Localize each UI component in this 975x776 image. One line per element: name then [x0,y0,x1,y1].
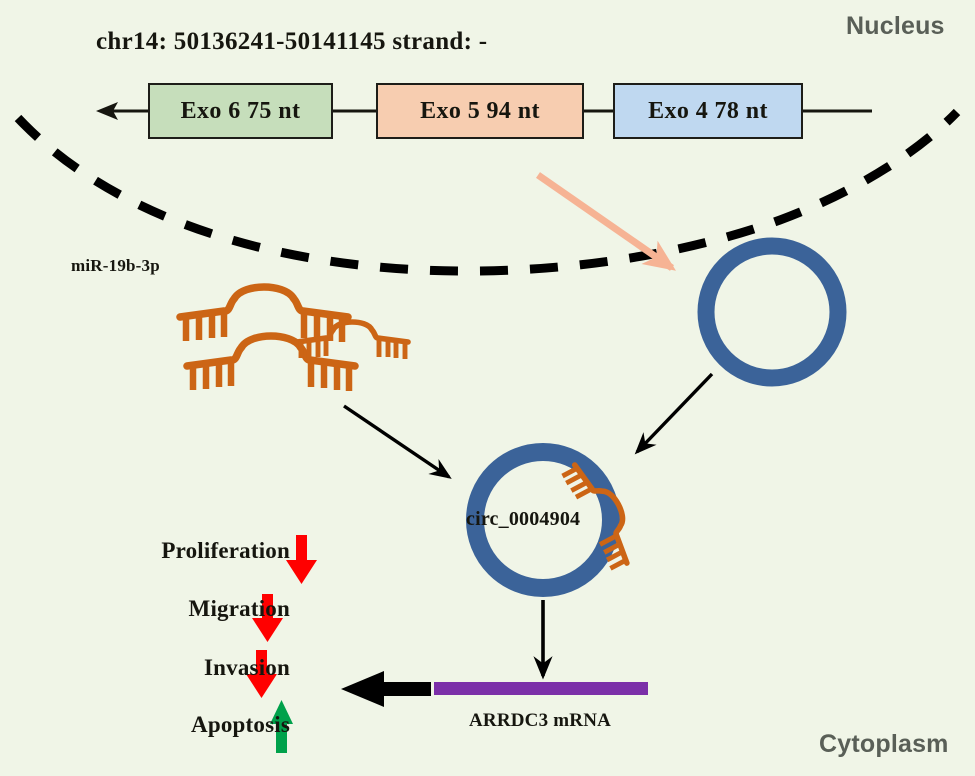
phenotype-list: Proliferation Migration Invasion Apoptos… [140,530,290,760]
gene-locus-coordinates: chr14: 50136241-50141145 strand: - [96,28,487,56]
outcome-arrow [341,671,431,707]
phenotype-label-migration: Migration [189,596,290,622]
pathway-diagram: Nucleus Cytoplasm chr14: 50136241-501411… [0,0,975,776]
mrna-label: ARRDC3 mRNA [469,710,611,732]
biogenesis-arrow [538,175,672,268]
export-arrow [637,374,712,452]
phenotype-label-invasion: Invasion [204,655,290,681]
cytoplasm-label: Cytoplasm [819,730,949,759]
phenotype-label-apoptosis: Apoptosis [191,712,290,738]
nucleus-label: Nucleus [846,12,945,41]
circrna-label: circ_0004904 [466,508,580,531]
mrna-bar [434,682,648,695]
mirna-label: miR-19b-3p [71,256,160,276]
mirna-cluster [180,287,408,391]
exon-box-6: Exo 6 75 nt [148,83,333,139]
sponge-arrow [344,406,449,477]
phenotype-arrow-down-0 [286,535,317,584]
phenotype-label-proliferation: Proliferation [161,538,290,564]
exon-box-4: Exo 4 78 nt [613,83,803,139]
circrna-ring-nuclear [706,246,838,378]
exon-box-5: Exo 5 94 nt [376,83,584,139]
